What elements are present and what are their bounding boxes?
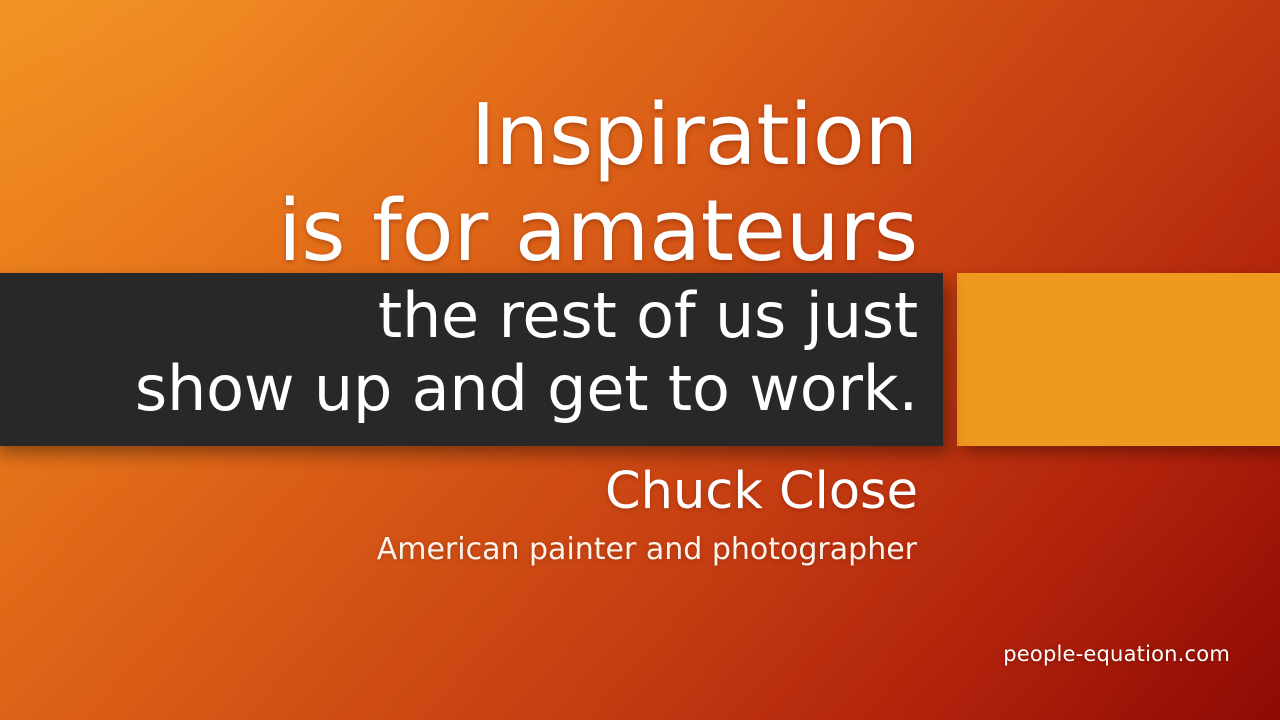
quote-line-top: Inspiration is for amateurs [38,88,918,280]
site-credit: people-equation.com [1003,641,1230,667]
author-name: Chuck Close [38,463,918,521]
quote-slide: Inspiration is for amateurs the rest of … [0,0,1280,720]
quote-line-bottom: the rest of us just show up and get to w… [38,279,918,425]
accent-block [957,273,1280,446]
author-role: American painter and photographer [37,532,917,568]
